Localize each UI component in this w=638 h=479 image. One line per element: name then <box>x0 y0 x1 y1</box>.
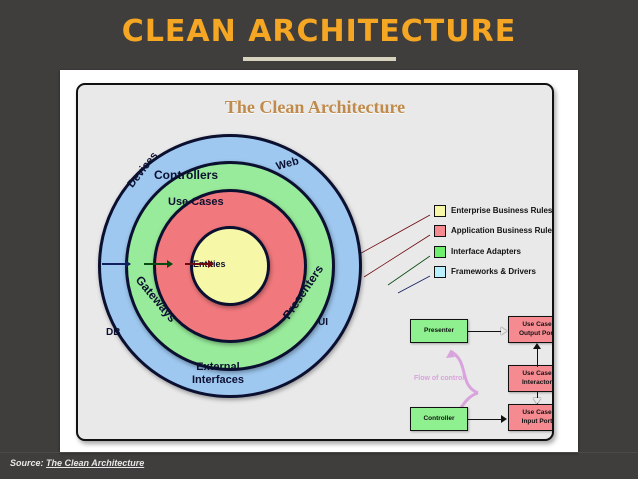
flow-connector-controller-to-input-port <box>468 419 502 420</box>
ring-label-external-interfaces: External Interfaces <box>192 361 244 387</box>
flow-box-label: Use Case Output Port <box>519 321 554 338</box>
flow-box-presenter: Presenter <box>410 319 468 343</box>
ring-label-controllers: Controllers <box>154 168 218 182</box>
inward-arrow-adapters-icon <box>144 263 172 265</box>
flow-box-use-case-input-port: <I> Use Case Input Port <box>508 404 554 431</box>
ring-label-ui: UI <box>318 317 328 328</box>
external-line-2: Interfaces <box>192 374 244 386</box>
title-underline-rule <box>243 57 396 61</box>
flow-arrowhead-down-open-icon <box>533 398 541 404</box>
legend-label: Enterprise Business Rules <box>451 205 552 217</box>
source-link[interactable]: The Clean Architecture <box>46 458 144 468</box>
ring-label-db: DB <box>106 327 120 338</box>
flow-box-label: Use Case Input Port <box>522 409 553 426</box>
flow-box-use-case-output-port: <I> Use Case Output Port <box>508 316 554 343</box>
concentric-rings: Controllers Use Cases Entities Web Devic… <box>80 132 380 432</box>
flow-box-label-line1: Use Case <box>522 321 551 328</box>
diagram-panel: The Clean Architecture Controllers Use C… <box>76 83 554 441</box>
legend-swatch-icon <box>434 205 446 217</box>
flow-of-control-label: Flow of control <box>414 375 464 382</box>
flow-connector-presenter-to-output-port <box>468 331 502 332</box>
flow-arrowhead-open-icon <box>501 327 507 335</box>
legend-swatch-icon <box>434 225 446 237</box>
legend-label: Application Business Rules <box>451 225 554 237</box>
legend-label: Frameworks & Drivers <box>451 266 536 278</box>
flow-box-controller: Controller <box>410 407 468 431</box>
source-prefix: Source: <box>10 458 44 468</box>
flow-connector-interactor-to-output-port <box>537 349 538 367</box>
external-line-1: External <box>196 361 239 373</box>
slide-root: CLEAN ARCHITECTURE The Clean Architectur… <box>0 0 638 479</box>
footer-divider <box>0 452 638 453</box>
flow-box-label-line1: Use Case <box>522 409 551 416</box>
flow-box-label-line2: Interactor <box>522 379 552 386</box>
inward-arrow-usecases-icon <box>185 263 213 265</box>
flow-box-label-line2: Output Port <box>519 330 554 337</box>
ring-label-use-cases: Use Cases <box>168 196 224 208</box>
source-footer: Source: The Clean Architecture <box>10 458 144 468</box>
legend-swatch-icon <box>434 266 446 278</box>
flow-box-label-line2: Input Port <box>522 418 553 425</box>
flow-box-label: Presenter <box>424 327 454 336</box>
diagram-card: The Clean Architecture Controllers Use C… <box>60 70 578 452</box>
flow-of-control-diagram: Presenter <I> Use Case Output Port Use C… <box>408 313 554 435</box>
page-title: CLEAN ARCHITECTURE <box>0 14 638 49</box>
flow-box-label: Controller <box>423 415 454 424</box>
inward-arrow-frameworks-icon <box>102 263 130 265</box>
flow-box-label-line1: Use Case <box>522 370 551 377</box>
flow-box-label: Use Case Interactor <box>522 370 552 387</box>
legend-label: Interface Adapters <box>451 246 521 258</box>
flow-box-use-case-interactor: Use Case Interactor <box>508 365 554 392</box>
legend-swatch-icon <box>434 246 446 258</box>
flow-arrowhead-up-icon <box>533 343 541 349</box>
flow-arrowhead-right-icon <box>501 415 507 423</box>
